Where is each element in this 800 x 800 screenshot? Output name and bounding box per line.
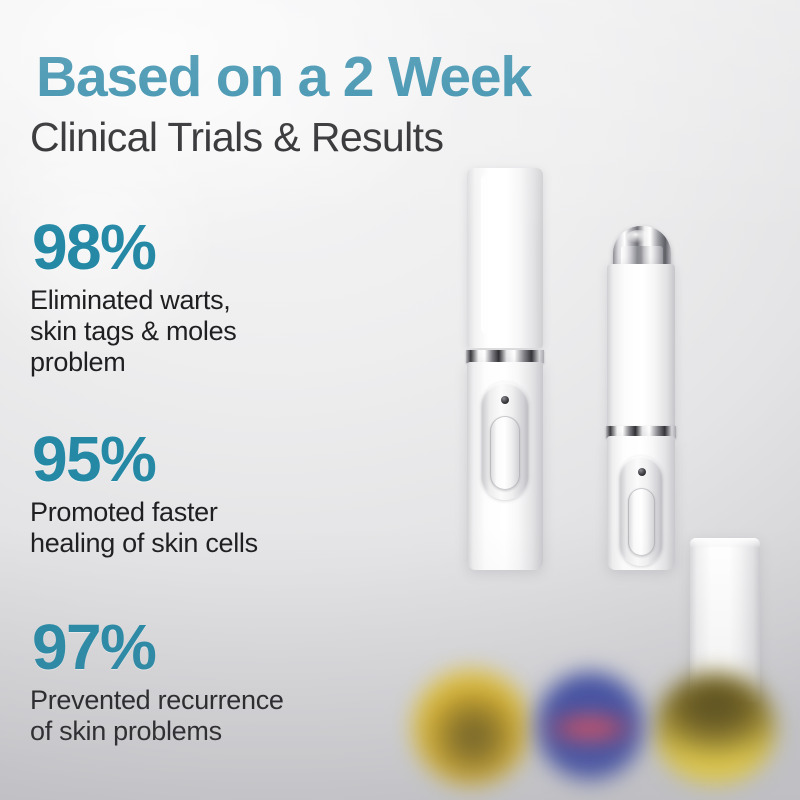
device-cap bbox=[467, 168, 543, 348]
device-power-button bbox=[490, 416, 520, 490]
stat-block-3: 97% Prevented recurrence of skin problem… bbox=[30, 616, 360, 747]
device-led-indicator bbox=[501, 396, 509, 404]
stat-percent-2: 95% bbox=[32, 428, 360, 491]
stat-percent-3: 97% bbox=[32, 616, 360, 679]
stat-block-2: 95% Promoted faster healing of skin cell… bbox=[30, 428, 360, 559]
laser-pen-chrome-tip bbox=[607, 226, 675, 570]
stat-percent-1: 98% bbox=[32, 216, 360, 279]
page-subtitle: Clinical Trials & Results bbox=[30, 115, 670, 160]
stat-block-1: 98% Eliminated warts, skin tags & moles … bbox=[30, 216, 360, 379]
device-upper-body bbox=[607, 264, 675, 434]
page-title: Based on a 2 Week bbox=[36, 48, 676, 106]
blue-red-light-glow bbox=[536, 672, 644, 780]
device-led-indicator bbox=[638, 468, 646, 476]
amber-light-glow bbox=[412, 668, 530, 786]
stat-description-1: Eliminated warts, skin tags & moles prob… bbox=[30, 285, 360, 379]
laser-pen-with-cap bbox=[467, 168, 543, 570]
stat-description-3: Prevented recurrence of skin problems bbox=[30, 685, 360, 748]
product-banner: Based on a 2 Week Clinical Trials & Resu… bbox=[0, 0, 800, 800]
device-power-button bbox=[628, 488, 655, 556]
gold-light-glow bbox=[654, 672, 776, 784]
stat-description-2: Promoted faster healing of skin cells bbox=[30, 497, 360, 560]
